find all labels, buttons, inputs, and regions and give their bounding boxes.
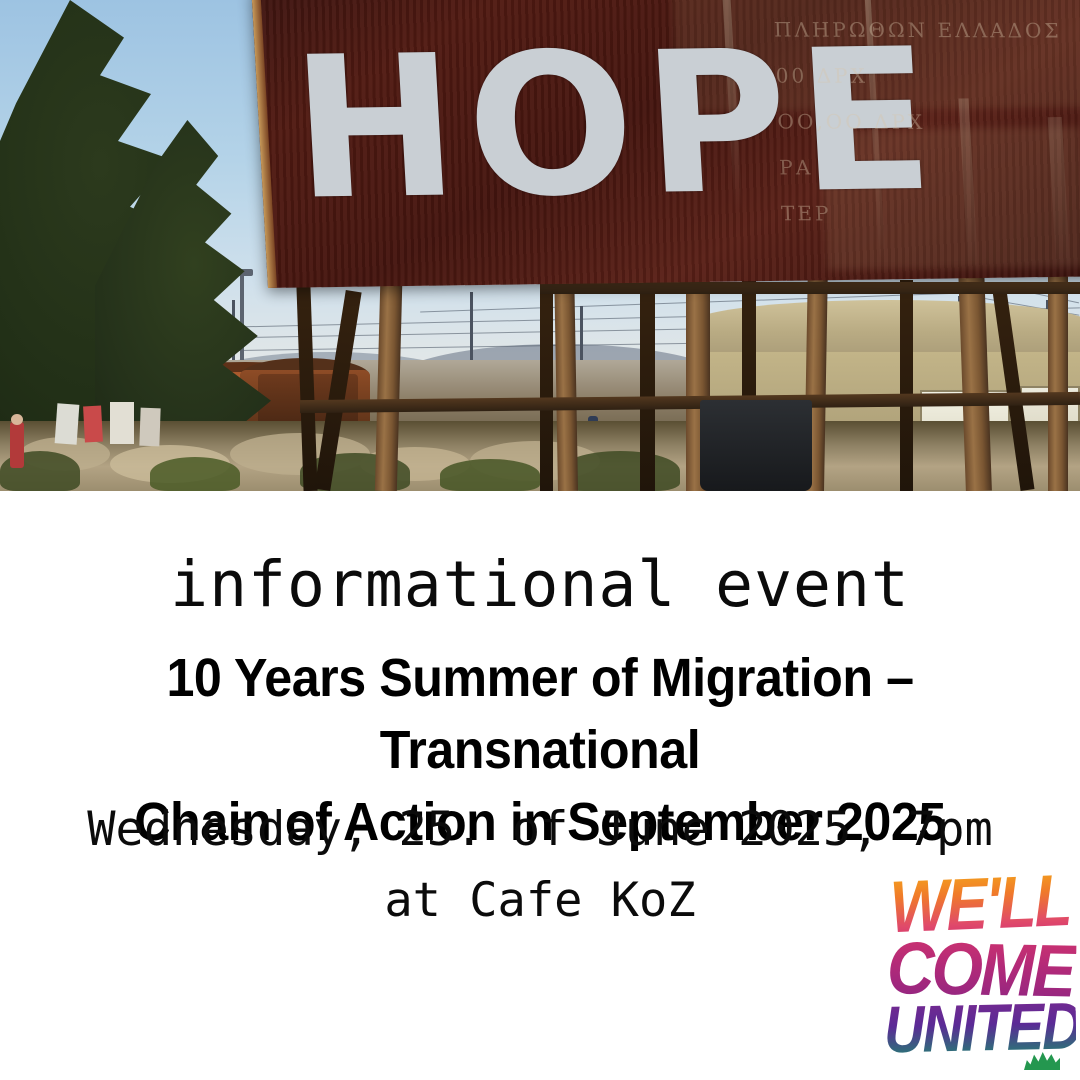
headline-line-1: 10 Years Summer of Migration – Transnati… bbox=[166, 648, 913, 780]
child-figure-head bbox=[11, 414, 23, 425]
laundry bbox=[55, 403, 80, 444]
event-poster: HOPE ΠΛΗΡΩΘΩΝ ΕΛΛΑΔΟΣ 00 ΔΡΧ ΟΟ,ΟΟ ΔΡΧ Ρ… bbox=[0, 0, 1080, 1080]
kicker-text: informational event bbox=[0, 553, 1080, 616]
header-photo: HOPE ΠΛΗΡΩΘΩΝ ΕΛΛΑΔΟΣ 00 ΔΡΧ ΟΟ,ΟΟ ΔΡΧ Ρ… bbox=[0, 0, 1080, 491]
steel-beam bbox=[640, 280, 655, 491]
event-date-line: Wednesday, 25. of June 2025, 7pm bbox=[87, 802, 992, 857]
wooden-post bbox=[1048, 272, 1068, 491]
child-figure bbox=[10, 422, 24, 468]
text-block: informational event 10 Years Summer of M… bbox=[0, 491, 1080, 1080]
steel-beam bbox=[900, 280, 913, 491]
laundry bbox=[83, 406, 103, 443]
billboard-faint-greek-text: ΠΛΗΡΩΘΩΝ ΕΛΛΑΔΟΣ 00 ΔΡΧ ΟΟ,ΟΟ ΔΡΧ ΡΑ ΤΕΡ bbox=[773, 7, 1080, 238]
hope-billboard: HOPE ΠΛΗΡΩΘΩΝ ΕΛΛΑΔΟΣ 00 ΔΡΧ ΟΟ,ΟΟ ΔΡΧ Ρ… bbox=[251, 0, 1080, 288]
laundry bbox=[110, 402, 134, 444]
steel-crossbeam bbox=[540, 282, 1080, 294]
logo-line-united: UNITED! bbox=[884, 993, 1077, 1063]
wooden-post bbox=[554, 262, 578, 491]
hanging-cloth bbox=[700, 400, 812, 491]
laundry bbox=[139, 408, 160, 447]
steel-beam bbox=[540, 282, 553, 491]
wellcome-united-logo: WE'LL COME UNITED! bbox=[884, 868, 1076, 1078]
